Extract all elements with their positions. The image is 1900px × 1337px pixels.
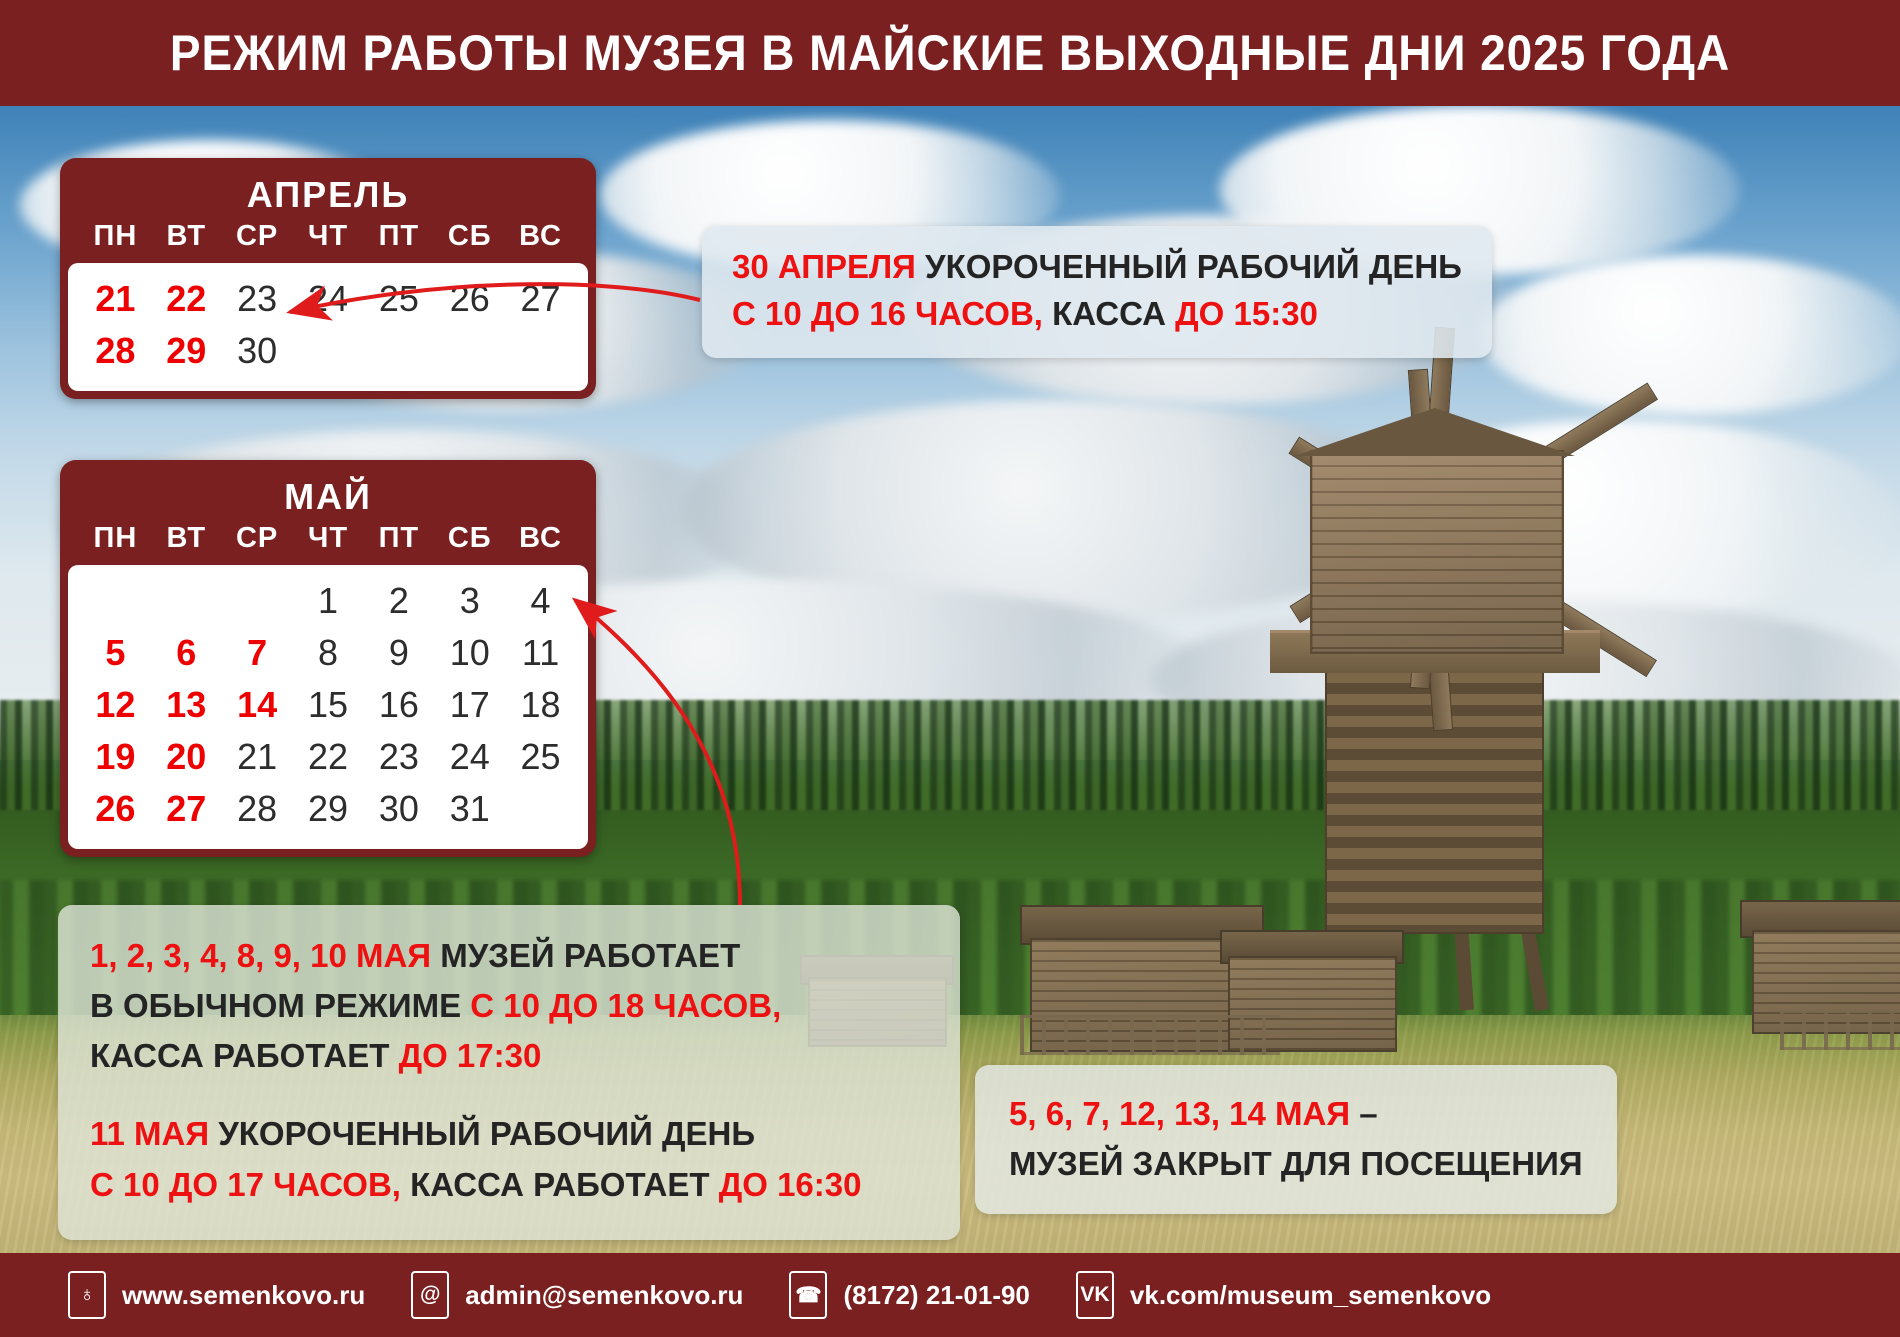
calendar-day-25[interactable]: 25: [363, 273, 434, 325]
calendar-day-22[interactable]: 22: [293, 731, 364, 783]
calendar-day-1[interactable]: 1: [293, 575, 364, 627]
calendar-day-5[interactable]: 5: [80, 627, 151, 679]
callout-may-short-cashdesk-time: ДО 16:30: [719, 1166, 862, 1203]
callout-may-short-line-1: 11 МАЯ УКОРОЧЕННЫЙ РАБОЧИЙ ДЕНЬ: [90, 1109, 930, 1159]
calendar-day-28[interactable]: 28: [222, 783, 293, 835]
calendar-day-22[interactable]: 22: [151, 273, 222, 325]
contact-text: admin@semenkovo.ru: [465, 1280, 743, 1311]
calendar-day-empty: [80, 575, 151, 627]
poster-root: РЕЖИМ РАБОТЫ МУЗЕЯ В МАЙСКИЕ ВЫХОДНЫЕ ДН…: [0, 0, 1900, 1337]
weekday-СР: СР: [222, 220, 293, 253]
weekday-ВС: ВС: [505, 522, 576, 555]
callout-april-date: 30 АПРЕЛЯ: [732, 248, 916, 285]
calendar-day-24[interactable]: 24: [293, 273, 364, 325]
callout-may-short-text: УКОРОЧЕННЫЙ РАБОЧИЙ ДЕНЬ: [209, 1115, 755, 1152]
weekday-ВС: ВС: [505, 220, 576, 253]
weekday-СР: СР: [222, 522, 293, 555]
callout-may-schedule: 1, 2, 3, 4, 8, 9, 10 МАЯ МУЗЕЙ РАБОТАЕТ …: [58, 905, 960, 1240]
weekday-ПТ: ПТ: [363, 220, 434, 253]
callout-may-regular-line-1: 1, 2, 3, 4, 8, 9, 10 МАЯ МУЗЕЙ РАБОТАЕТ: [90, 931, 930, 981]
callout-may-short-cashdesk-label: КАССА РАБОТАЕТ: [401, 1166, 719, 1203]
calendar-day-18[interactable]: 18: [505, 679, 576, 731]
calendar-week-row: 1234: [80, 575, 576, 627]
calendar-day-26[interactable]: 26: [434, 273, 505, 325]
callout-may-short-line-2: С 10 ДО 17 ЧАСОВ, КАССА РАБОТАЕТ ДО 16:3…: [90, 1160, 930, 1210]
calendar-day-31[interactable]: 31: [434, 783, 505, 835]
windmill-body: [1310, 450, 1564, 654]
calendar-body-may: 1234567891011121314151617181920212223242…: [68, 565, 588, 849]
calendar-day-24[interactable]: 24: [434, 731, 505, 783]
calendar-day-empty: [434, 325, 505, 377]
weekday-ЧТ: ЧТ: [293, 522, 364, 555]
calendar-body-april: 21222324252627282930: [68, 263, 588, 391]
phone-icon: ☎: [789, 1271, 827, 1319]
calendar-day-empty: [222, 575, 293, 627]
callout-april-line-1: 30 АПРЕЛЯ УКОРОЧЕННЫЙ РАБОЧИЙ ДЕНЬ: [732, 244, 1462, 291]
calendar-week-row: 567891011: [80, 627, 576, 679]
weekday-ПН: ПН: [80, 522, 151, 555]
callout-april-text: УКОРОЧЕННЫЙ РАБОЧИЙ ДЕНЬ: [916, 248, 1462, 285]
calendar-day-11[interactable]: 11: [505, 627, 576, 679]
calendar-day-16[interactable]: 16: [363, 679, 434, 731]
callout-closed-line-1: 5, 6, 7, 12, 13, 14 МАЯ –: [1009, 1089, 1583, 1139]
calendar-title-april: АПРЕЛЬ: [68, 166, 588, 220]
windmill-roof: [1295, 408, 1575, 456]
callout-may-regular-line-2: В ОБЫЧНОМ РЕЖИМЕ С 10 ДО 18 ЧАСОВ,: [90, 981, 930, 1031]
calendar-day-2[interactable]: 2: [363, 575, 434, 627]
callout-may-regular-cashdesk-time: ДО 17:30: [399, 1037, 542, 1074]
callout-may-short-date: 11 МАЯ: [90, 1115, 209, 1152]
callout-may-short-hours: С 10 ДО 17 ЧАСОВ,: [90, 1166, 401, 1203]
calendar-day-19[interactable]: 19: [80, 731, 151, 783]
email-icon: @: [411, 1271, 449, 1319]
page-title: РЕЖИМ РАБОТЫ МУЗЕЯ В МАЙСКИЕ ВЫХОДНЫЕ ДН…: [170, 24, 1730, 82]
calendar-week-row: 282930: [80, 325, 576, 377]
calendar-week-row: 12131415161718: [80, 679, 576, 731]
weekday-ВТ: ВТ: [151, 220, 222, 253]
calendar-day-empty: [151, 575, 222, 627]
calendar-day-25[interactable]: 25: [505, 731, 576, 783]
contact-text: vk.com/museum_semenkovo: [1130, 1280, 1491, 1311]
callout-may-regular-mode: В ОБЫЧНОМ РЕЖИМЕ: [90, 987, 470, 1024]
callout-closed-line-2: МУЗЕЙ ЗАКРЫТ ДЛЯ ПОСЕЩЕНИЯ: [1009, 1139, 1583, 1189]
weekday-ЧТ: ЧТ: [293, 220, 364, 253]
contact-text: www.semenkovo.ru: [122, 1280, 365, 1311]
calendar-weekday-header: ПНВТСРЧТПТСБВС: [68, 220, 588, 263]
calendar-day-14[interactable]: 14: [222, 679, 293, 731]
weekday-СБ: СБ: [434, 522, 505, 555]
calendar-day-28[interactable]: 28: [80, 325, 151, 377]
calendar-day-10[interactable]: 10: [434, 627, 505, 679]
contact-vk[interactable]: VKvk.com/museum_semenkovo: [1076, 1271, 1491, 1319]
callout-closed-dates: 5, 6, 7, 12, 13, 14 МАЯ: [1009, 1095, 1350, 1132]
wooden-fence: [1780, 1010, 1900, 1050]
calendar-day-empty: [363, 325, 434, 377]
calendar-day-6[interactable]: 6: [151, 627, 222, 679]
calendar-day-20[interactable]: 20: [151, 731, 222, 783]
calendar-weekday-header: ПНВТСРЧТПТСБВС: [68, 522, 588, 565]
calendar-day-empty: [505, 325, 576, 377]
contact-globe[interactable]: ♁www.semenkovo.ru: [68, 1271, 365, 1319]
weekday-ПТ: ПТ: [363, 522, 434, 555]
callout-closed-days: 5, 6, 7, 12, 13, 14 МАЯ – МУЗЕЙ ЗАКРЫТ Д…: [975, 1065, 1617, 1214]
calendar-day-29[interactable]: 29: [151, 325, 222, 377]
calendar-day-empty: [505, 783, 576, 835]
calendar-day-9[interactable]: 9: [363, 627, 434, 679]
header-banner: РЕЖИМ РАБОТЫ МУЗЕЯ В МАЙСКИЕ ВЫХОДНЫЕ ДН…: [0, 0, 1900, 106]
calendar-day-23[interactable]: 23: [363, 731, 434, 783]
calendar-day-4[interactable]: 4: [505, 575, 576, 627]
callout-spacer: [90, 1081, 930, 1109]
calendar-day-12[interactable]: 12: [80, 679, 151, 731]
callout-may-regular-dates: 1, 2, 3, 4, 8, 9, 10 МАЯ: [90, 937, 431, 974]
weekday-СБ: СБ: [434, 220, 505, 253]
callout-may-regular-line-3: КАССА РАБОТАЕТ ДО 17:30: [90, 1031, 930, 1081]
calendar-day-15[interactable]: 15: [293, 679, 364, 731]
calendar-week-row: 262728293031: [80, 783, 576, 835]
wooden-fence: [1020, 1015, 1280, 1055]
callout-may-regular-hours: С 10 ДО 18 ЧАСОВ,: [470, 987, 781, 1024]
callout-april-line-2: С 10 ДО 16 ЧАСОВ, КАССА ДО 15:30: [732, 291, 1462, 338]
calendar-day-26[interactable]: 26: [80, 783, 151, 835]
callout-april-hours: С 10 ДО 16 ЧАСОВ,: [732, 295, 1043, 332]
callout-may-regular-text: МУЗЕЙ РАБОТАЕТ: [431, 937, 740, 974]
calendar-day-13[interactable]: 13: [151, 679, 222, 731]
contact-text: (8172) 21-01-90: [843, 1280, 1029, 1311]
calendar-day-8[interactable]: 8: [293, 627, 364, 679]
footer-contacts-bar: ♁www.semenkovo.ru@admin@semenkovo.ru☎(81…: [0, 1253, 1900, 1337]
calendar-day-empty: [293, 325, 364, 377]
calendar-title-may: МАЙ: [68, 468, 588, 522]
callout-april-cashdesk-label: КАССА: [1043, 295, 1175, 332]
calendar-day-23[interactable]: 23: [222, 273, 293, 325]
calendar-day-30[interactable]: 30: [222, 325, 293, 377]
calendar-week-row: 21222324252627: [80, 273, 576, 325]
calendar-day-17[interactable]: 17: [434, 679, 505, 731]
callout-may-regular-cashdesk-label: КАССА РАБОТАЕТ: [90, 1037, 399, 1074]
calendar-day-30[interactable]: 30: [363, 783, 434, 835]
contact-phone[interactable]: ☎(8172) 21-01-90: [789, 1271, 1029, 1319]
calendar-day-7[interactable]: 7: [222, 627, 293, 679]
vk-icon: VK: [1076, 1271, 1114, 1319]
calendar-day-29[interactable]: 29: [293, 783, 364, 835]
callout-closed-dash: –: [1350, 1095, 1378, 1132]
contact-email[interactable]: @admin@semenkovo.ru: [411, 1271, 743, 1319]
calendar-week-row: 19202122232425: [80, 731, 576, 783]
calendar-april: АПРЕЛЬПНВТСРЧТПТСБВС21222324252627282930: [60, 158, 596, 399]
callout-april-short-day: 30 АПРЕЛЯ УКОРОЧЕННЫЙ РАБОЧИЙ ДЕНЬ С 10 …: [702, 226, 1492, 358]
weekday-ВТ: ВТ: [151, 522, 222, 555]
calendar-may: МАЙПНВТСРЧТПТСБВС12345678910111213141516…: [60, 460, 596, 857]
calendar-day-21[interactable]: 21: [222, 731, 293, 783]
globe-icon: ♁: [68, 1271, 106, 1319]
weekday-ПН: ПН: [80, 220, 151, 253]
calendar-day-27[interactable]: 27: [151, 783, 222, 835]
callout-april-cashdesk-time: ДО 15:30: [1175, 295, 1318, 332]
calendar-day-21[interactable]: 21: [80, 273, 151, 325]
calendar-day-3[interactable]: 3: [434, 575, 505, 627]
calendar-day-27[interactable]: 27: [505, 273, 576, 325]
